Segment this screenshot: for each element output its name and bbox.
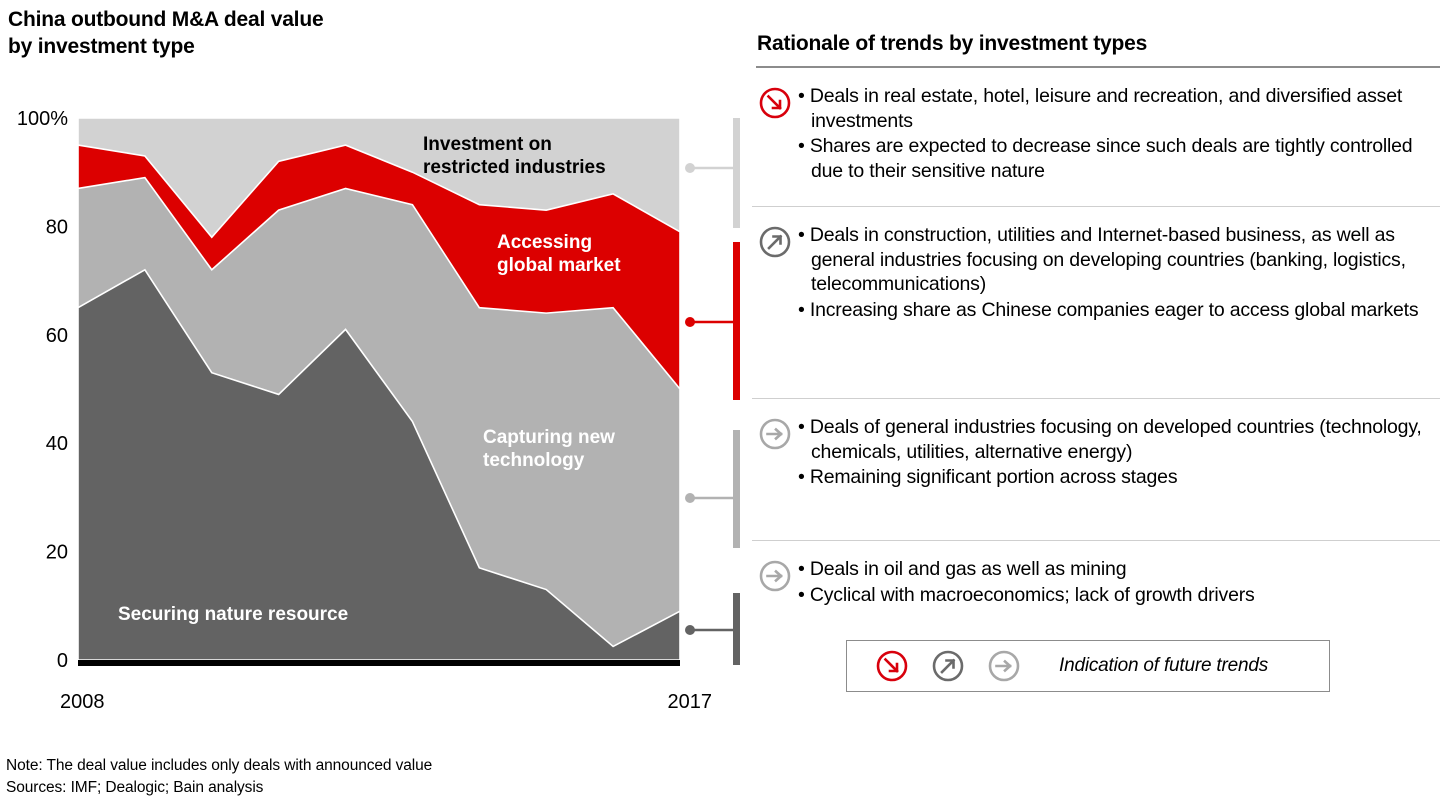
rationale-row-bullets: Deals of general industries focusing on …	[798, 415, 1440, 491]
legend-icons	[875, 649, 1021, 683]
rationale-bullet: Shares are expected to decrease since su…	[798, 134, 1436, 183]
rationale-title-divider	[756, 66, 1440, 68]
y-axis-tick-label: 0	[57, 650, 68, 672]
rationale-bullet: Deals in oil and gas as well as mining	[798, 557, 1436, 582]
footnote-note: Note: The deal value includes only deals…	[6, 755, 726, 777]
chart-svg: 100%80604020020082017 Investment onrestr…	[0, 0, 740, 740]
y-axis-tick-label: 60	[46, 325, 68, 347]
rationale-row-bullets: Deals in construction, utilities and Int…	[798, 223, 1440, 323]
arrow-right-circle-icon	[758, 417, 792, 451]
rationale-row-icon	[752, 223, 798, 259]
rationale-row: Deals in oil and gas as well as miningCy…	[752, 540, 1440, 632]
rationale-row-bullets: Deals in real estate, hotel, leisure and…	[798, 84, 1440, 184]
legend-box: Indication of future trends	[846, 640, 1330, 692]
arrow-right-circle-icon	[987, 649, 1021, 683]
footnote-sources: Sources: IMF; Dealogic; Bain analysis	[6, 777, 726, 799]
chart-areas	[78, 118, 680, 660]
x-axis-year-end: 2017	[668, 691, 713, 713]
y-axis-tick-label: 40	[46, 433, 68, 455]
connector-dot	[685, 625, 695, 635]
y-axis-tick-label: 80	[46, 216, 68, 238]
connector-dot	[685, 317, 695, 327]
connector-bar	[733, 430, 740, 548]
rationale-list: Deals in real estate, hotel, leisure and…	[752, 70, 1440, 632]
arrow-down-right-circle-icon	[875, 649, 909, 683]
y-axis-tick-label: 20	[46, 542, 68, 564]
rationale-title: Rationale of trends by investment types	[757, 32, 1147, 56]
arrow-up-right-circle-icon	[931, 649, 965, 683]
x-axis-baseline	[78, 660, 680, 666]
stacked-area-chart: 100%80604020020082017 Investment onrestr…	[0, 0, 740, 740]
legend-label: Indication of future trends	[1059, 655, 1268, 677]
rationale-row-icon	[752, 84, 798, 120]
connector-dot	[685, 163, 695, 173]
rationale-bullet: Remaining significant portion across sta…	[798, 465, 1436, 490]
rationale-bullet: Cyclical with macroeconomics; lack of gr…	[798, 583, 1436, 608]
rationale-row: Deals of general industries focusing on …	[752, 398, 1440, 540]
connector-bar	[733, 242, 740, 400]
connector-bar	[733, 593, 740, 665]
rationale-bullet: Increasing share as Chinese companies ea…	[798, 298, 1436, 323]
y-axis-tick-label: 100%	[17, 108, 68, 130]
rationale-row: Deals in real estate, hotel, leisure and…	[752, 70, 1440, 206]
arrow-down-right-circle-icon	[758, 86, 792, 120]
footnotes: Note: The deal value includes only deals…	[6, 755, 726, 800]
rationale-row-icon	[752, 557, 798, 593]
connector-bar	[733, 118, 740, 228]
connector-dot	[685, 493, 695, 503]
arrow-up-right-circle-icon	[758, 225, 792, 259]
x-axis-year-start: 2008	[60, 691, 105, 713]
chart-panel: China outbound M&A deal value by investm…	[0, 0, 740, 810]
rationale-row-bullets: Deals in oil and gas as well as miningCy…	[798, 557, 1440, 608]
rationale-bullet: Deals in real estate, hotel, leisure and…	[798, 84, 1436, 133]
rationale-row-icon	[752, 415, 798, 451]
series-annotation: Securing nature resource	[118, 604, 348, 625]
arrow-right-circle-icon	[758, 559, 792, 593]
rationale-panel: Rationale of trends by investment types …	[752, 0, 1440, 810]
rationale-row: Deals in construction, utilities and Int…	[752, 206, 1440, 398]
chart-connectors	[685, 118, 740, 665]
rationale-bullet: Deals of general industries focusing on …	[798, 415, 1436, 464]
rationale-bullet: Deals in construction, utilities and Int…	[798, 223, 1436, 297]
